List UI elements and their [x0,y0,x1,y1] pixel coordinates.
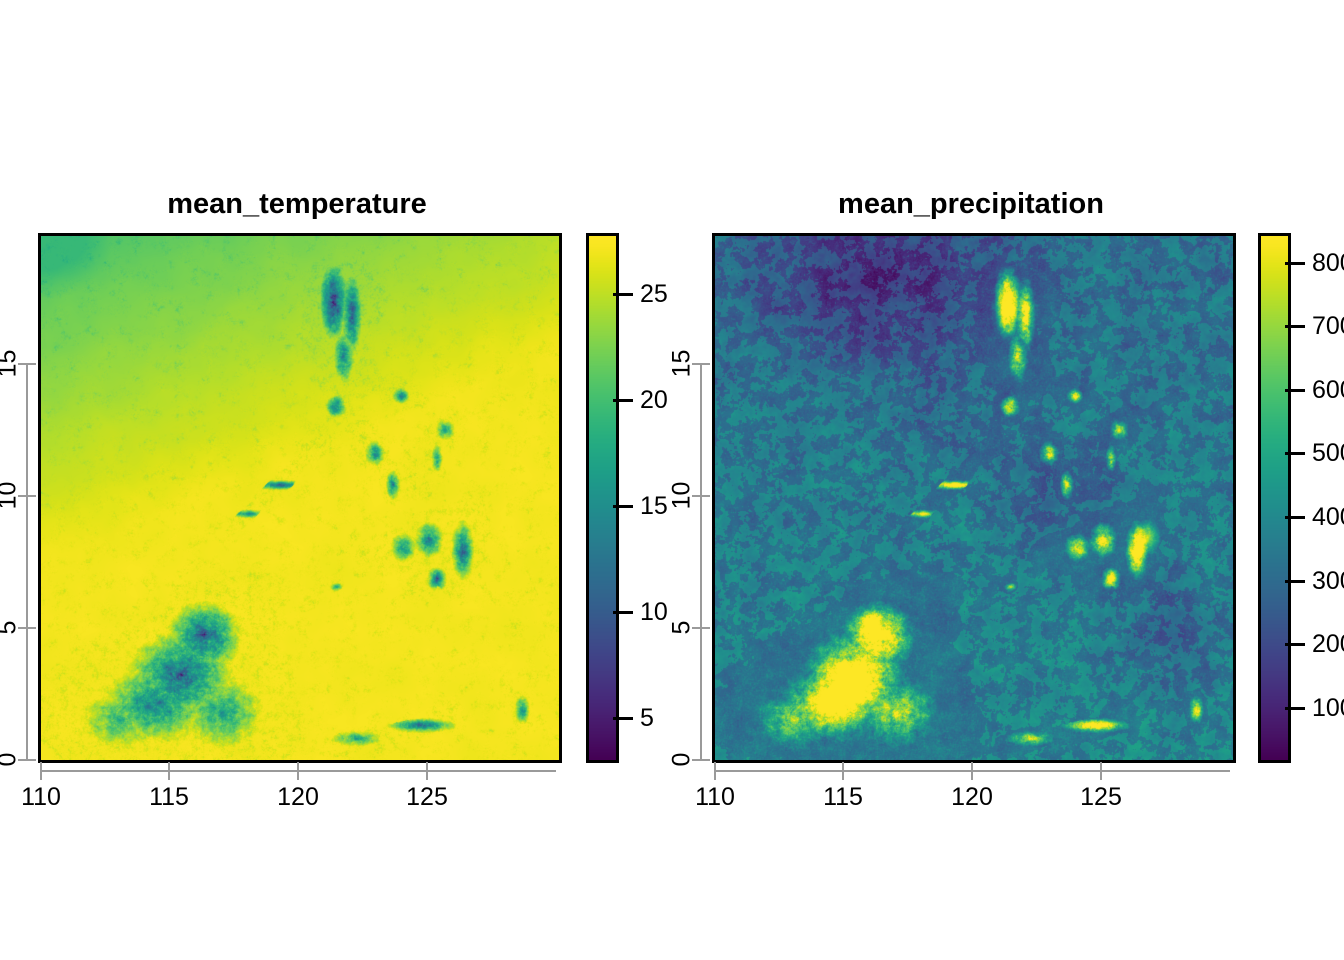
xtick-120-temperature [297,762,299,780]
colorbar-label-20-temperature: 20 [640,388,668,413]
xtick-label-125-temperature: 125 [396,785,458,810]
ytick-label-10-temperature: 10 [0,471,21,521]
colorbar-label-600-precipitation: 600 [1312,378,1344,403]
colorbar-tick-10-temperature [613,611,633,614]
colorbar-label-15-temperature: 15 [640,494,668,519]
colorbar-label-700-precipitation: 700 [1312,314,1344,339]
map-temperature[interactable] [38,233,562,763]
colorbar-label-10-temperature: 10 [640,600,668,625]
colorbar-tick-300-precipitation [1285,580,1305,583]
xtick-125-temperature [426,762,428,780]
xtick-label-110-temperature: 110 [10,785,72,810]
colorbar-precipitation[interactable] [1258,233,1291,763]
ytick-label-15-precipitation: 15 [670,339,695,389]
raster-temperature [41,236,559,760]
xtick-110-precipitation [714,762,716,780]
xtick-label-110-precipitation: 110 [684,785,746,810]
colorbar-tick-200-precipitation [1285,643,1305,646]
colorbar-tick-600-precipitation [1285,389,1305,392]
colorbar-label-800-precipitation: 800 [1312,251,1344,276]
xtick-label-115-precipitation: 115 [812,785,874,810]
colorbar-tick-5-temperature [613,717,633,720]
xtick-125-precipitation [1100,762,1102,780]
xtick-label-125-precipitation: 125 [1070,785,1132,810]
ytick-label-5-precipitation: 5 [670,603,695,653]
colorbar-tick-800-precipitation [1285,262,1305,265]
xtick-120-precipitation [971,762,973,780]
xtick-115-temperature [168,762,170,780]
xtick-label-120-precipitation: 120 [941,785,1003,810]
colorbar-tick-100-precipitation [1285,707,1305,710]
colorbar-label-500-precipitation: 500 [1312,441,1344,466]
colorbar-tick-500-precipitation [1285,452,1305,455]
ytick-label-0-temperature: 0 [0,735,21,785]
colorbar-gradient-precipitation [1261,236,1288,760]
map-precipitation[interactable] [712,233,1236,763]
yaxis-line-temperature [26,363,28,761]
page-title-temperature: mean_temperature [38,190,556,219]
ytick-label-5-temperature: 5 [0,603,21,653]
xtick-label-120-temperature: 120 [267,785,329,810]
raster-precipitation [715,236,1233,760]
colorbar-tick-15-temperature [613,505,633,508]
colorbar-label-400-precipitation: 400 [1312,505,1344,530]
xtick-label-115-temperature: 115 [138,785,200,810]
colorbar-tick-400-precipitation [1285,516,1305,519]
ytick-label-15-temperature: 15 [0,339,21,389]
figure-root: mean_temperature 110 115 120 125 0 5 10 … [0,0,1344,960]
xtick-115-precipitation [842,762,844,780]
page-title-precipitation: mean_precipitation [712,190,1230,219]
colorbar-label-100-precipitation: 100 [1312,696,1344,721]
colorbar-tick-20-temperature [613,399,633,402]
ytick-label-10-precipitation: 10 [670,471,695,521]
colorbar-label-300-precipitation: 300 [1312,569,1344,594]
ytick-label-0-precipitation: 0 [670,735,695,785]
colorbar-label-25-temperature: 25 [640,282,668,307]
colorbar-temperature[interactable] [586,233,619,763]
yaxis-line-precipitation [700,363,702,761]
xtick-110-temperature [40,762,42,780]
colorbar-label-5-temperature: 5 [640,706,654,731]
colorbar-tick-700-precipitation [1285,325,1305,328]
colorbar-gradient-temperature [589,236,616,760]
colorbar-label-200-precipitation: 200 [1312,632,1344,657]
colorbar-tick-25-temperature [613,293,633,296]
